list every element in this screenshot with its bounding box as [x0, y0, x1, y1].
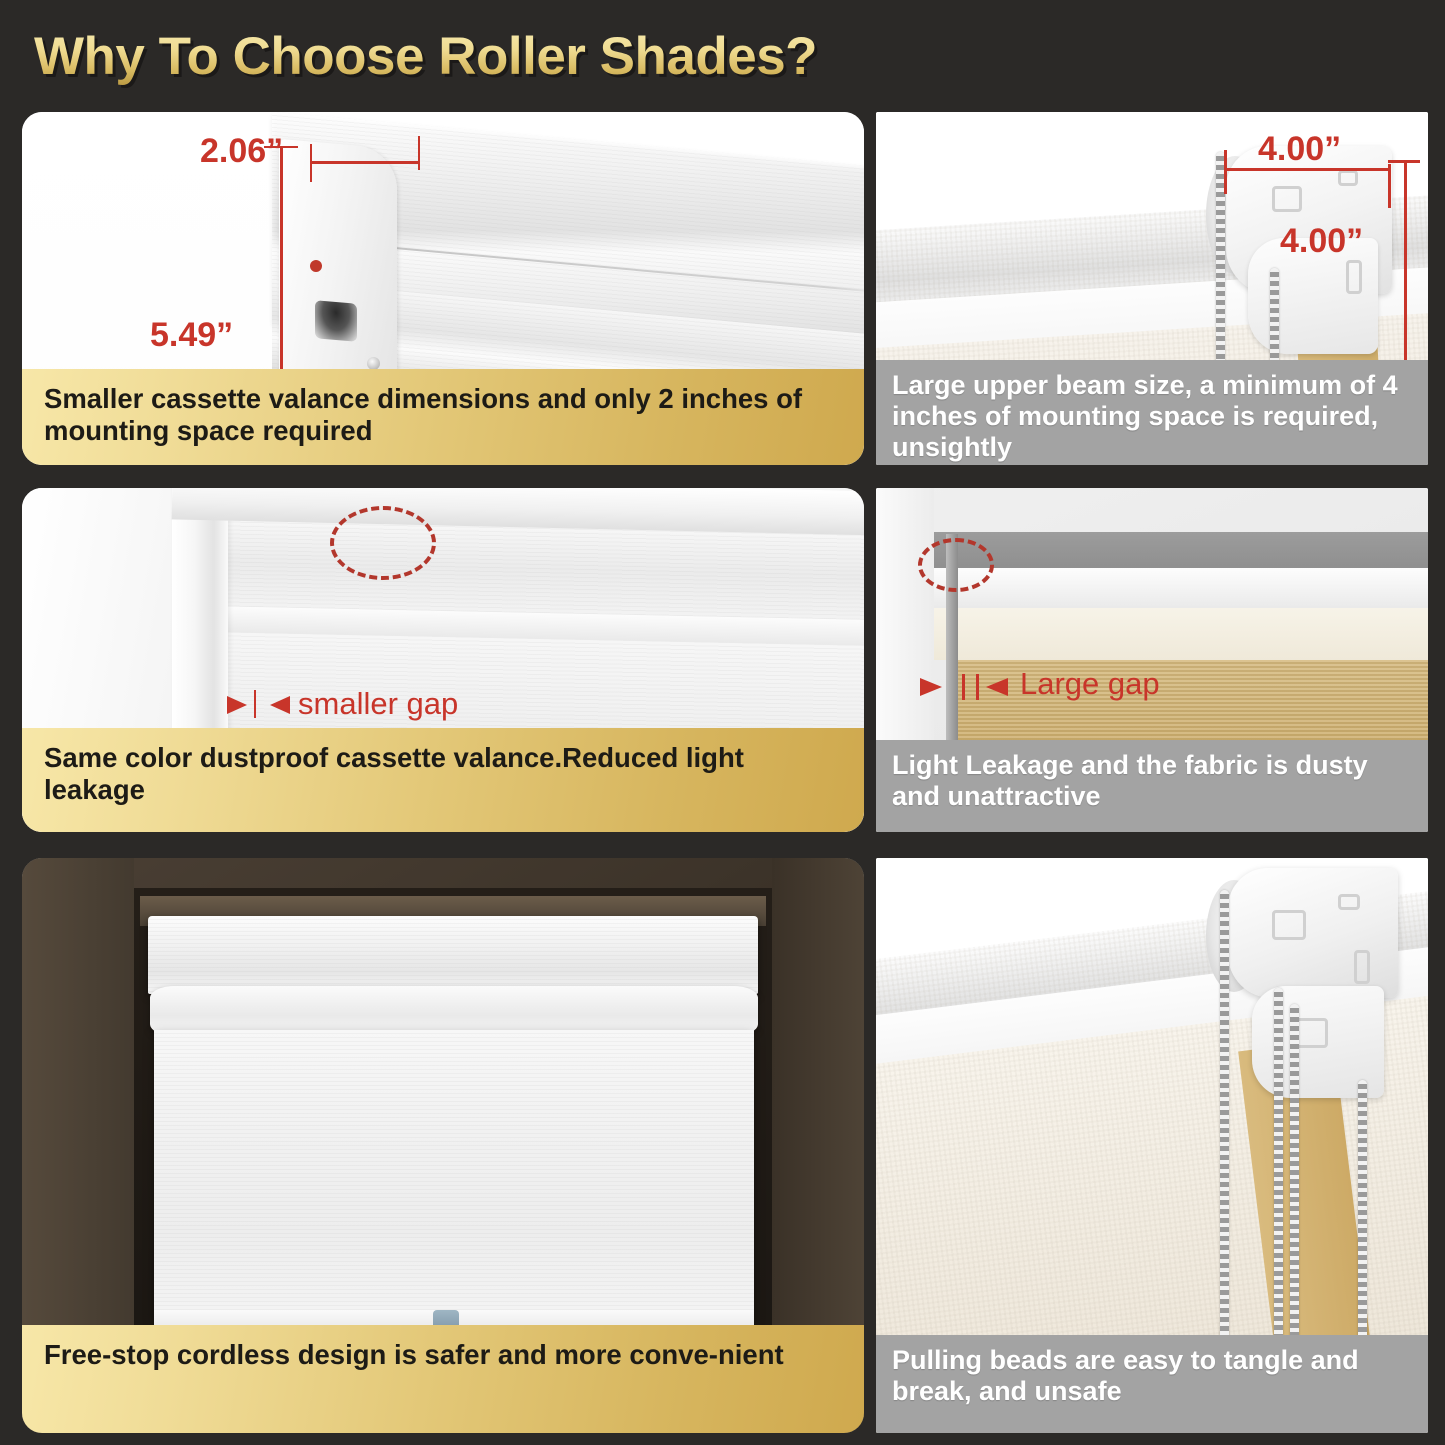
panel-light-leakage: Large gap Light Leakage and the fabric i…: [876, 488, 1428, 832]
pull-chain[interactable]: [1220, 890, 1229, 1358]
highlight-ellipse: [330, 506, 436, 580]
panel-pulling-beads: Pulling beads are easy to tangle and bre…: [876, 858, 1428, 1433]
height-dimension-label: 4.00”: [1280, 222, 1363, 261]
gap-callout-label: Large gap: [1020, 666, 1160, 702]
pull-chain[interactable]: [1290, 1004, 1299, 1358]
panel-smaller-cassette: 2.06” 5.49” Smaller cassette valance dim…: [22, 112, 864, 465]
height-dimension-label: 5.49”: [150, 316, 233, 355]
caption-large-upper-beam: Large upper beam size, a minimum of 4 in…: [876, 360, 1428, 465]
gap-callout-label: smaller gap: [298, 686, 458, 722]
width-dimension-label: 2.06”: [200, 132, 283, 171]
panel-cordless-design: Free-stop cordless design is safer and m…: [22, 858, 864, 1433]
caption-cordless-design: Free-stop cordless design is safer and m…: [22, 1325, 864, 1433]
caption-smaller-cassette: Smaller cassette valance dimensions and …: [22, 369, 864, 465]
width-dimension-label: 4.00”: [1258, 130, 1341, 169]
highlight-ellipse: [918, 538, 994, 592]
caption-dustproof-valance: Same color dustproof cassette valance.Re…: [22, 728, 864, 832]
pull-chain[interactable]: [1358, 1080, 1367, 1358]
panel-dustproof-valance: smaller gap Same color dustproof cassett…: [22, 488, 864, 832]
pull-chain[interactable]: [1274, 988, 1283, 1358]
caption-pulling-beads: Pulling beads are easy to tangle and bre…: [876, 1335, 1428, 1433]
panel-large-upper-beam: 4.00” 4.00” Large upper beam size, a min…: [876, 112, 1428, 465]
comparison-grid: 2.06” 5.49” Smaller cassette valance dim…: [0, 0, 1445, 1445]
caption-light-leakage: Light Leakage and the fabric is dusty an…: [876, 740, 1428, 832]
bracket-slot-icon: [315, 300, 357, 342]
measurement-point-marker: [310, 260, 322, 272]
